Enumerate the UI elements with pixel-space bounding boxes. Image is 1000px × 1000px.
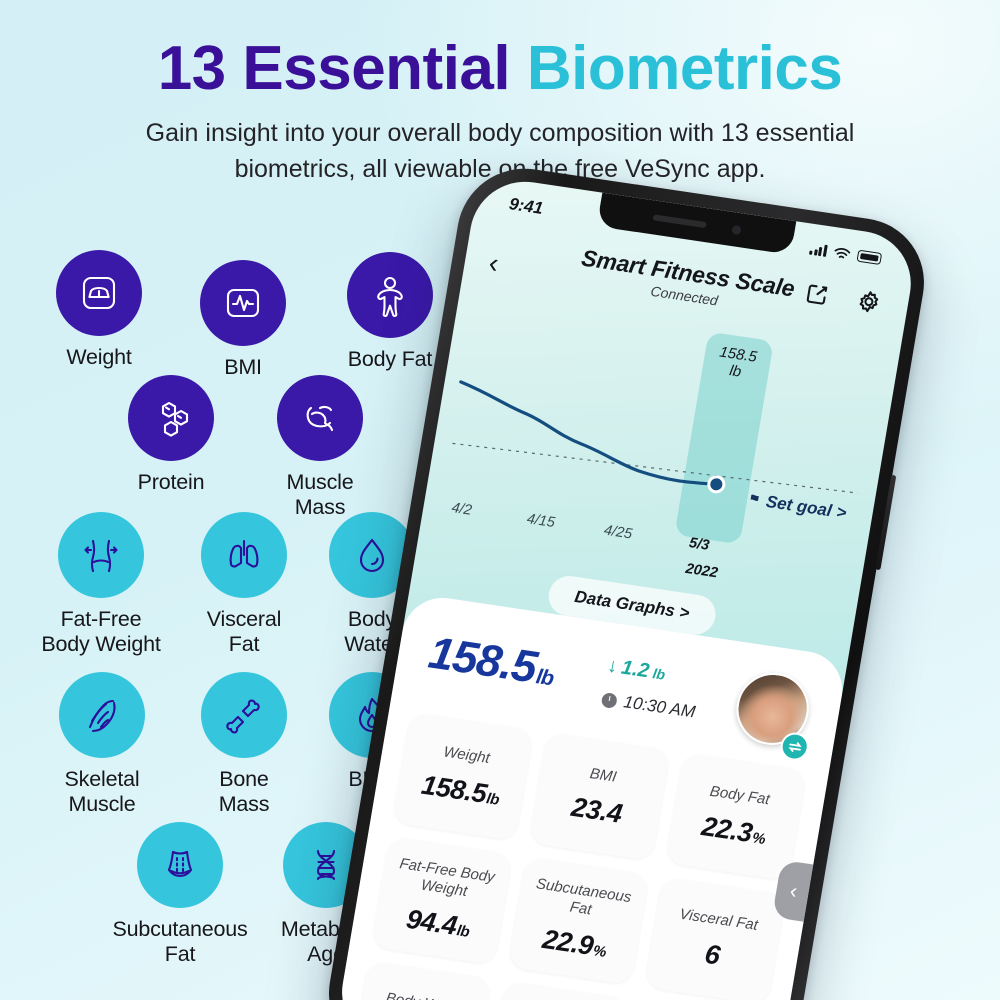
promo-graphic: 13 Essential Biometrics Gain insight int… [0, 0, 1000, 1000]
molecule-hexagons-icon [128, 375, 214, 461]
biometric-label: Weight [54, 345, 144, 370]
biometric-label: Fat-Free Body Weight [36, 607, 166, 658]
metrics-sheet: 158.5lb ↓1.2lb 10:30 AM [334, 593, 848, 1000]
heart-rate-chart-icon [200, 260, 286, 346]
delta-arrow-icon: ↓ [606, 655, 620, 679]
battery-icon [856, 250, 882, 265]
biometric-item-body-fat: Body Fat [342, 252, 438, 372]
torso-pinch-icon [137, 822, 223, 908]
delta-unit: lb [652, 665, 667, 683]
x-tick: 4/15 [526, 511, 557, 531]
muscle-fiber-icon [59, 672, 145, 758]
biometric-item-bone-mass: Bone Mass [196, 672, 292, 818]
biometric-item-visceral-fat: Visceral Fat [196, 512, 292, 658]
delta-value: 1.2 [619, 657, 650, 684]
biometric-item-weight: Weight [54, 250, 144, 370]
body-silhouette-icon [347, 252, 433, 338]
current-weight: 158.5lb [425, 627, 559, 697]
metric-value: 6 [702, 939, 723, 972]
weight-trend-line [450, 382, 727, 486]
goal-dashed-line [452, 433, 857, 502]
page-title-part2: Biometrics [527, 34, 842, 103]
biometric-item-subcutaneous-fat: Subcutaneous Fat [96, 822, 264, 968]
phone-power-button[interactable] [875, 475, 896, 570]
metric-card[interactable]: Body Water51.5% [350, 961, 491, 1000]
share-icon[interactable] [802, 279, 833, 313]
metric-card[interactable]: Visceral Fat6 [644, 877, 785, 1000]
metric-label: Weight [442, 743, 491, 768]
page-title: 13 Essential Biometrics [0, 36, 1000, 102]
metric-card[interactable]: Subcutaneous Fat22.9% [508, 857, 649, 986]
flag-icon [746, 492, 762, 508]
metric-value: 23.4 [569, 792, 625, 830]
biometric-item-muscle-mass: Muscle Mass [272, 375, 368, 521]
metric-value: 22.9% [540, 924, 609, 964]
gear-icon[interactable] [853, 287, 884, 321]
metric-value: 22.3% [699, 811, 768, 851]
status-time: 9:41 [507, 194, 544, 219]
bone-joint-icon [201, 672, 287, 758]
biometric-label: Visceral Fat [196, 607, 292, 658]
wifi-icon [833, 246, 852, 261]
reading-time-label: 10:30 AM [622, 692, 697, 722]
metric-card[interactable]: BMI23.4 [529, 732, 670, 861]
weight-delta: ↓1.2lb [606, 655, 667, 686]
metric-value: 158.5lb [419, 770, 502, 812]
metric-label: BMI [588, 765, 617, 787]
metric-card[interactable]: Skeletal Muscle43.5% [487, 981, 628, 1000]
metric-value: 94.4lb [404, 904, 472, 944]
waist-measure-icon [58, 512, 144, 598]
lungs-icon [201, 512, 287, 598]
page-title-part1: 13 Essential [158, 34, 527, 103]
x-tick: 4/25 [603, 523, 634, 543]
status-indicators [809, 242, 882, 265]
metric-label: Fat-Free Body Weight [385, 854, 506, 906]
reading-time: 10:30 AM [600, 689, 696, 722]
signal-bars-icon [809, 243, 828, 257]
current-weight-unit: lb [534, 665, 554, 690]
metrics-grid: Weight158.5lb BMI23.4 Body Fat22.3% Fat-… [334, 712, 807, 1000]
biometric-label: Subcutaneous Fat [96, 917, 264, 968]
chart-selected-point [708, 476, 725, 493]
clock-icon [601, 691, 618, 708]
biometric-label: Skeletal Muscle [52, 767, 152, 818]
biometric-label: Protein [126, 470, 216, 495]
flexed-arm-icon [277, 375, 363, 461]
biometric-item-bmi: BMI [198, 260, 288, 380]
page-subtitle-line1: Gain insight into your overall body comp… [100, 116, 900, 152]
metric-card[interactable]: Body Fat22.3% [665, 752, 806, 881]
x-tick-selected: 5/3 [688, 535, 711, 554]
bathroom-scale-icon [56, 250, 142, 336]
biometric-item-fat-free-body-weight: Fat-Free Body Weight [36, 512, 166, 658]
metric-label: Subcutaneous Fat [522, 874, 643, 926]
metric-card[interactable]: Fat-Free Body Weight94.4lb [371, 836, 512, 965]
biometric-item-skeletal-muscle: Skeletal Muscle [52, 672, 152, 818]
biometric-label: Bone Mass [196, 767, 292, 818]
metric-label: Body Fat [708, 783, 770, 810]
metric-card[interactable]: Weight158.5lb [392, 712, 533, 841]
x-tick: 4/2 [450, 500, 473, 519]
metric-label: Visceral Fat [678, 906, 759, 935]
biometric-label: Body Fat [342, 347, 438, 372]
metric-label: Body Water [384, 990, 464, 1000]
biometric-item-protein: Protein [126, 375, 216, 495]
current-weight-value: 158.5 [425, 627, 540, 693]
